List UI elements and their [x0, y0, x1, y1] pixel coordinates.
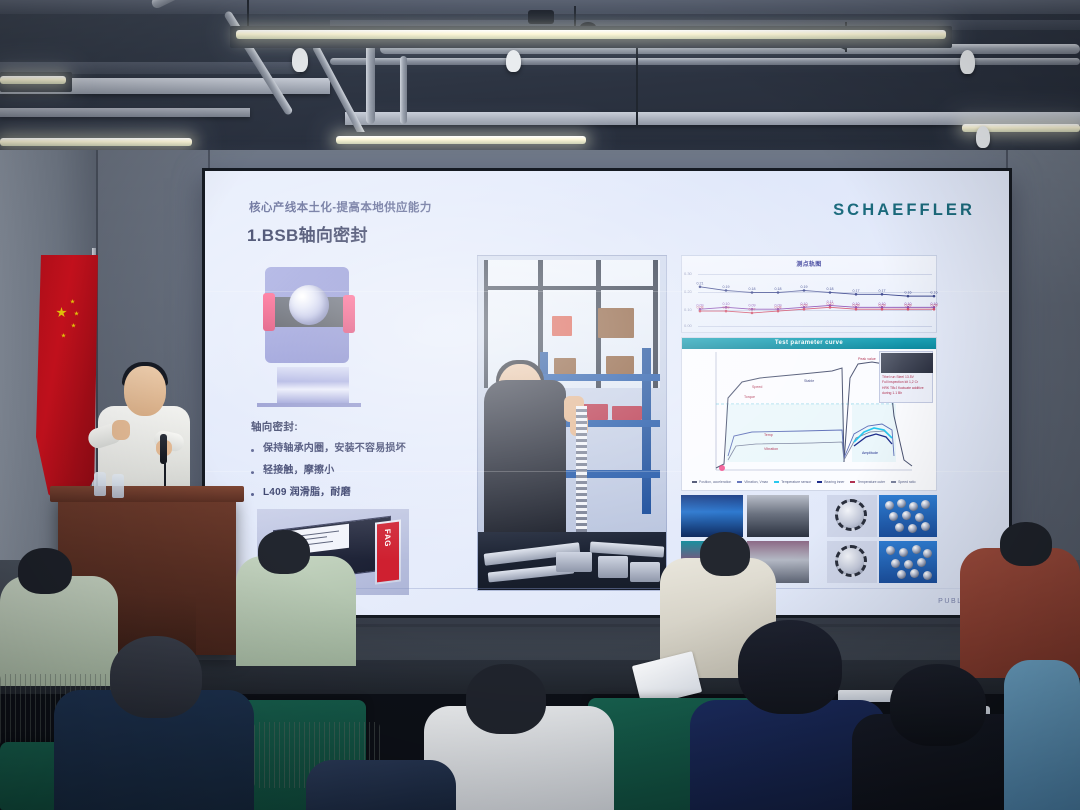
- svg-text:0.07: 0.07: [749, 307, 756, 311]
- note-text: Tthel run Steel 13.5V Full inspection ki…: [882, 375, 924, 397]
- ceiling-duct: [0, 108, 250, 117]
- slide-kicker: 核心产线本土化-提高本地供应能力: [249, 199, 432, 215]
- steel-balls-photo: [879, 541, 937, 583]
- ceiling-camera: [528, 10, 554, 24]
- svg-text:0.09: 0.09: [853, 304, 860, 308]
- svg-text:0.09: 0.09: [879, 304, 886, 308]
- ceiling-spotlight: [976, 126, 990, 148]
- microphone: [160, 434, 167, 464]
- measurement-line-chart: 测点轨图 0.30 0.20 0.10 0.00 0.210.190.180.1…: [681, 255, 937, 333]
- national-flag: [36, 255, 98, 515]
- bullet-heading: 轴向密封:: [251, 419, 463, 434]
- steel-balls-photo: [879, 495, 937, 537]
- ceiling-light-tube: [236, 30, 946, 39]
- curve-note-callout: Tthel run Steel 13.5V Full inspection ki…: [879, 351, 933, 403]
- svg-text:0.09: 0.09: [905, 304, 912, 308]
- bearing-cage-photo: [827, 541, 877, 583]
- note-thumbnail: [881, 353, 933, 373]
- bullet-dot-icon: [251, 449, 254, 452]
- ceiling-spotlight: [960, 50, 975, 74]
- svg-text:Amplitude: Amplitude: [862, 451, 878, 455]
- conference-room-scene: 核心产线本土化-提高本地供应能力 1.BSB轴向密封 SCHAEFFLER 轴向…: [0, 0, 1080, 810]
- audience-member: [1004, 660, 1080, 810]
- svg-text:0.19: 0.19: [723, 285, 730, 289]
- audience-member: [258, 530, 310, 574]
- line-chart-plot: 0.210.190.180.180.190.180.170.170.160.16…: [682, 256, 938, 334]
- water-bottle: [94, 472, 106, 496]
- test-parameter-curve-chart: Test parameter curve: [681, 337, 937, 491]
- curve-legend: Position, acceleration Vibration, Vmax T…: [692, 476, 926, 488]
- svg-text:Stable: Stable: [804, 379, 814, 383]
- svg-text:0.19: 0.19: [801, 285, 808, 289]
- svg-text:Torque: Torque: [744, 395, 755, 399]
- ceiling-pipe: [366, 44, 375, 124]
- ceiling-light-tube: [336, 136, 586, 144]
- svg-text:0.08: 0.08: [775, 306, 782, 310]
- svg-text:0.08: 0.08: [697, 306, 704, 310]
- bullet-dot-icon: [251, 493, 254, 496]
- audience-member: [738, 620, 842, 714]
- bearing-cage-photo: [827, 495, 877, 537]
- svg-text:0.21: 0.21: [697, 281, 704, 285]
- projection-screen: 核心产线本土化-提高本地供应能力 1.BSB轴向密封 SCHAEFFLER 轴向…: [202, 168, 1012, 618]
- svg-text:0.09: 0.09: [931, 304, 938, 308]
- svg-text:Temp: Temp: [764, 433, 773, 437]
- raceway-micrograph: [681, 495, 743, 537]
- list-item: 保持轴承内圈，安装不容易损坏: [251, 443, 463, 455]
- svg-text:0.09: 0.09: [801, 304, 808, 308]
- audience-member: [18, 548, 72, 594]
- bearing-cross-section-diagram: [255, 263, 363, 411]
- ceiling-light-tube: [0, 76, 66, 84]
- audience-member: [890, 664, 986, 746]
- audience-member: [960, 548, 1080, 678]
- svg-text:0.08: 0.08: [723, 306, 730, 310]
- svg-text:Speed: Speed: [752, 385, 762, 389]
- raceway-micrograph: [747, 495, 809, 537]
- slide-title: 1.BSB轴向密封: [247, 221, 368, 246]
- bullet-list: 轴向密封: 保持轴承内圈，安装不容易损坏 轻接触，摩擦小 L409 润滑脂，耐磨: [251, 419, 463, 509]
- svg-text:Peak value: Peak value: [858, 357, 876, 361]
- audience-member: [0, 576, 118, 686]
- audience-member: [466, 664, 546, 734]
- ceiling-pipe: [400, 56, 407, 124]
- svg-text:Vibration: Vibration: [764, 447, 778, 451]
- ceiling-light-tube: [0, 138, 192, 146]
- ceiling: [0, 0, 1080, 172]
- ceiling-spotlight: [292, 48, 308, 72]
- audience-member: [700, 532, 750, 576]
- projected-slide: 核心产线本土化-提高本地供应能力 1.BSB轴向密封 SCHAEFFLER 轴向…: [205, 171, 1009, 615]
- svg-text:0.10: 0.10: [827, 302, 834, 306]
- list-item: L409 润滑脂，耐磨: [251, 487, 463, 499]
- audience-member: [306, 760, 456, 810]
- audience-member: [1000, 522, 1052, 566]
- schaeffler-logo: SCHAEFFLER: [833, 201, 975, 220]
- slide-content: 核心产线本土化-提高本地供应能力 1.BSB轴向密封 SCHAEFFLER 轴向…: [205, 171, 1009, 615]
- water-bottle: [112, 474, 124, 498]
- ceiling-spotlight: [506, 50, 521, 72]
- audience-member: [110, 636, 202, 718]
- fag-brand-text: FAG: [383, 528, 392, 547]
- assembly-workshop-photo: [477, 255, 667, 591]
